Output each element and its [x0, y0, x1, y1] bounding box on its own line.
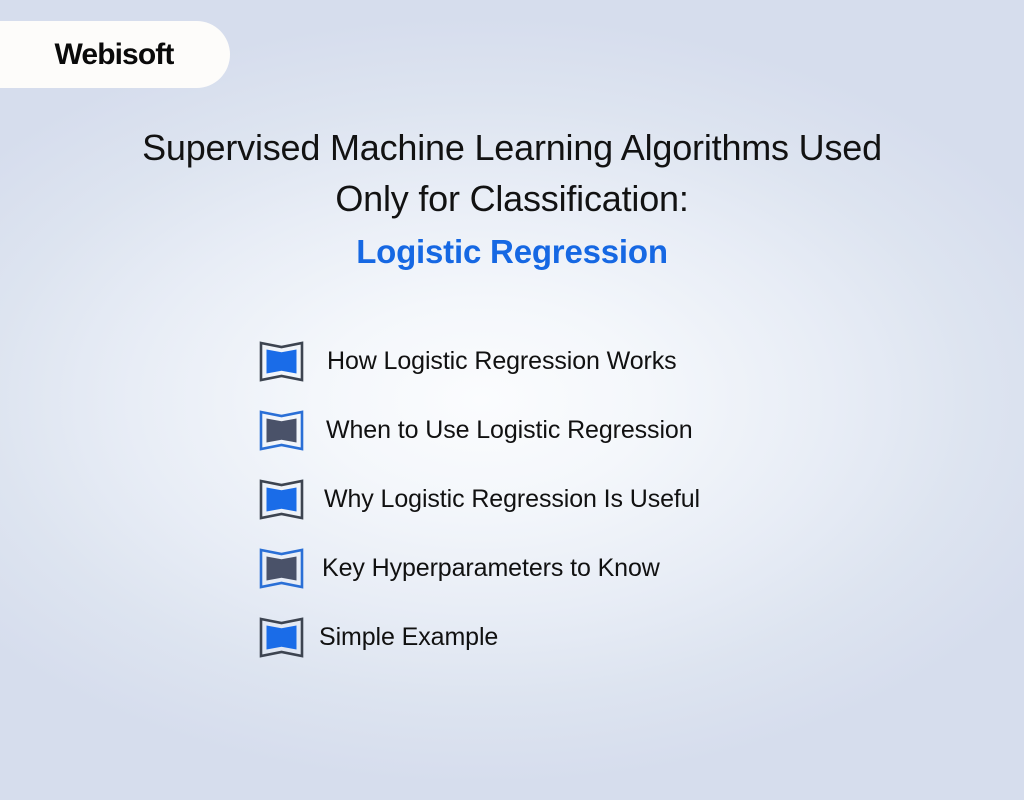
list-item[interactable]: When to Use Logistic Regression — [258, 406, 958, 455]
slide-title-block: Supervised Machine Learning Algorithms U… — [0, 122, 1024, 278]
slide-canvas: Webisoft Supervised Machine Learning Alg… — [0, 0, 1024, 800]
brand-logo-text: Webisoft — [55, 40, 174, 70]
list-item[interactable]: Simple Example — [258, 613, 958, 662]
page-title-accent: Logistic Regression — [0, 225, 1024, 278]
list-item-label: Key Hyperparameters to Know — [322, 556, 660, 581]
hexagon-badge-icon — [258, 477, 305, 522]
brand-logo-pill: Webisoft — [0, 21, 230, 88]
list-item[interactable]: How Logistic Regression Works — [258, 337, 958, 386]
hexagon-badge-icon — [258, 615, 305, 660]
hexagon-badge-icon — [258, 339, 305, 384]
hexagon-badge-icon — [258, 546, 305, 591]
list-item-label: How Logistic Regression Works — [327, 349, 677, 374]
topic-list: How Logistic Regression Works When to Us… — [258, 337, 958, 682]
list-item[interactable]: Key Hyperparameters to Know — [258, 544, 958, 593]
page-title-line-1: Supervised Machine Learning Algorithms U… — [0, 122, 1024, 173]
list-item-label: Why Logistic Regression Is Useful — [324, 487, 700, 512]
list-item[interactable]: Why Logistic Regression Is Useful — [258, 475, 958, 524]
hexagon-badge-icon — [258, 408, 305, 453]
list-item-label: When to Use Logistic Regression — [326, 418, 693, 443]
page-title-line-2: Only for Classification: — [0, 173, 1024, 224]
list-item-label: Simple Example — [319, 625, 498, 650]
